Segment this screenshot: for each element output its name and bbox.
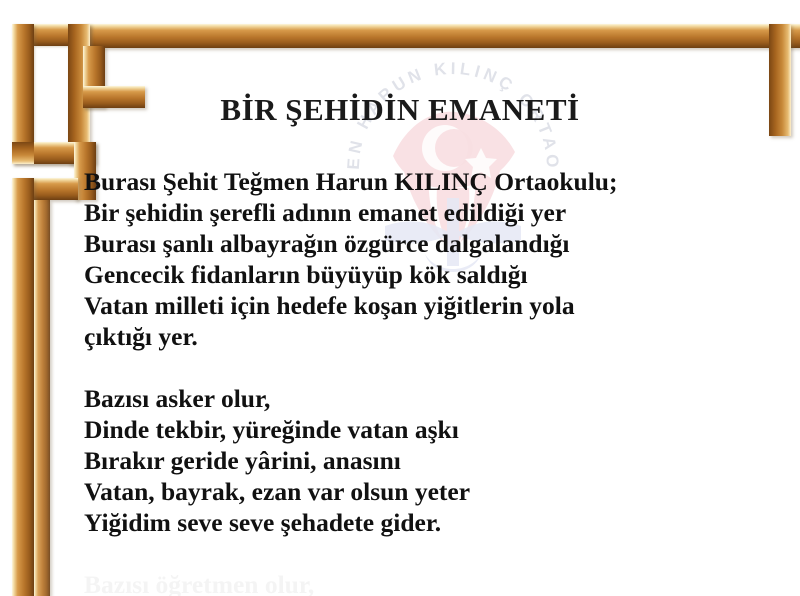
page-title: BİR ŞEHİDİN EMANETİ <box>0 92 800 128</box>
poem-line: Burası şanlı albayrağın özgürce dalgalan… <box>84 228 774 259</box>
poem-stanza: Bazısı asker olur, Dinde tekbir, yüreğin… <box>84 383 774 538</box>
slide-canvas: TEĞMEN HARUN KILINÇ ORTAOKULU BİR ŞEHİDİ… <box>0 0 800 596</box>
frame-top-bar <box>83 24 800 48</box>
frame-left-accent-bar <box>34 200 50 596</box>
poem-line: Yiğidim seve seve şehadete gider. <box>84 507 774 538</box>
poem-stanza-cut-off: Bazısı öğretmen olur, <box>84 569 774 596</box>
poem-line-cut-off: Bazısı öğretmen olur, <box>84 569 774 596</box>
poem-body: Burası Şehit Teğmen Harun KILINÇ Ortaoku… <box>84 166 774 596</box>
poem-line: Bazısı asker olur, <box>84 383 774 414</box>
poem-line: Vatan, bayrak, ezan var olsun yeter <box>84 476 774 507</box>
poem-stanza: Burası Şehit Teğmen Harun KILINÇ Ortaoku… <box>84 166 774 352</box>
poem-line: çıktığı yer. <box>84 321 774 352</box>
frame-left-long-bar <box>12 178 34 596</box>
poem-line: Gencecik fidanların büyüyüp kök saldığı <box>84 259 774 290</box>
poem-line: Bir şehidin şerefli adının emanet edildi… <box>84 197 774 228</box>
poem-line: Burası Şehit Teğmen Harun KILINÇ Ortaoku… <box>84 166 774 197</box>
poem-line: Vatan milleti için hedefe koşan yiğitler… <box>84 290 774 321</box>
poem-line: Dinde tekbir, yüreğinde vatan aşkı <box>84 414 774 445</box>
poem-line: Bırakır geride yârini, anasını <box>84 445 774 476</box>
